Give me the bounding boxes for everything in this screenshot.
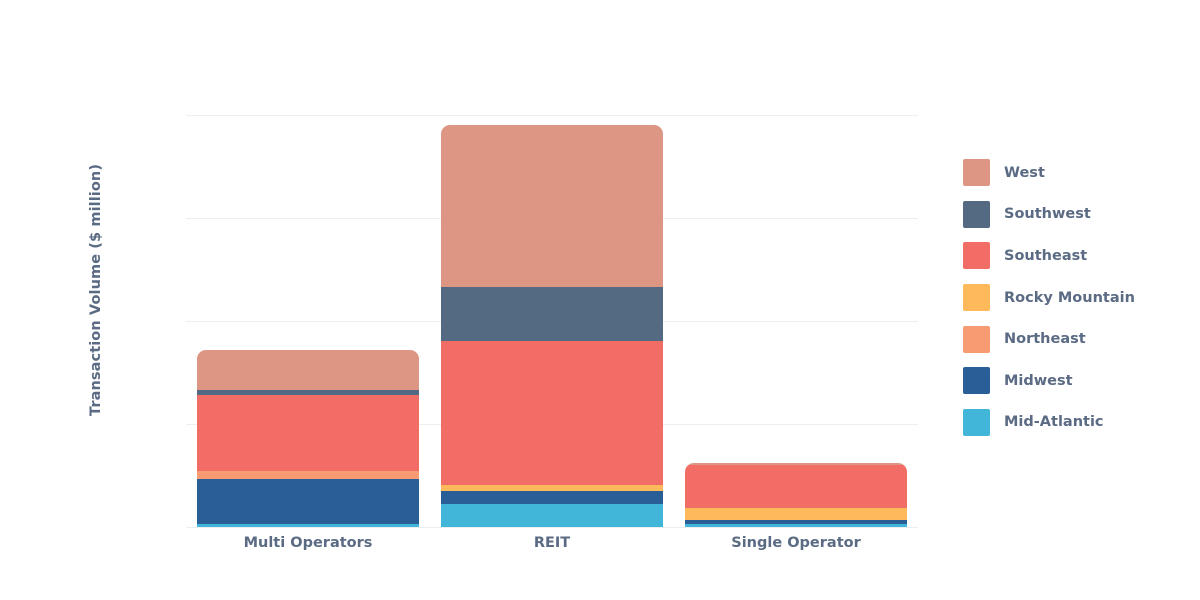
legend-item-mid-atlantic[interactable]: Mid-Atlantic — [963, 402, 1193, 444]
legend-item-southeast[interactable]: Southeast — [963, 235, 1193, 277]
bar-group[interactable]: Multi Operators — [197, 115, 419, 527]
legend-swatch-icon — [963, 326, 990, 353]
legend-item-label: West — [1004, 165, 1045, 181]
legend-item-label: Rocky Mountain — [1004, 290, 1135, 306]
stacked-bar-chart: Transaction Volume ($ million) $0$100$20… — [0, 0, 1200, 600]
bar-segment-southeast[interactable] — [685, 465, 907, 508]
legend-item-southwest[interactable]: Southwest — [963, 194, 1193, 236]
bar-stack[interactable] — [685, 463, 907, 527]
x-axis-tick-label: Multi Operators — [168, 535, 448, 551]
legend-swatch-icon — [963, 201, 990, 228]
bar-group[interactable]: Single Operator — [685, 115, 907, 527]
legend-swatch-icon — [963, 409, 990, 436]
x-axis-tick-label: Single Operator — [656, 535, 936, 551]
legend-swatch-icon — [963, 159, 990, 186]
bar-segment-southeast[interactable] — [441, 341, 663, 485]
y-axis-title: Transaction Volume ($ million) — [78, 80, 114, 500]
legend-item-northeast[interactable]: Northeast — [963, 318, 1193, 360]
bar-segment-southwest[interactable] — [441, 287, 663, 341]
legend-swatch-icon — [963, 284, 990, 311]
gridline-0 — [186, 527, 918, 528]
bar-segment-west[interactable] — [197, 350, 419, 390]
bar-segment-mid-atlantic[interactable] — [441, 504, 663, 527]
bar-segment-rocky-mountain[interactable] — [685, 508, 907, 519]
bar-segment-midwest[interactable] — [441, 491, 663, 504]
bar-stack[interactable] — [441, 125, 663, 527]
legend-swatch-icon — [963, 367, 990, 394]
legend-item-label: Midwest — [1004, 373, 1073, 389]
bar-segment-mid-atlantic[interactable] — [197, 524, 419, 527]
bar-segment-northeast[interactable] — [197, 471, 419, 478]
legend-item-label: Northeast — [1004, 331, 1086, 347]
legend-swatch-icon — [963, 242, 990, 269]
legend-item-rocky-mountain[interactable]: Rocky Mountain — [963, 277, 1193, 319]
bar-segment-mid-atlantic[interactable] — [685, 524, 907, 527]
bar-segment-midwest[interactable] — [197, 479, 419, 524]
legend: WestSouthwestSoutheastRocky MountainNort… — [963, 152, 1193, 443]
legend-item-label: Southwest — [1004, 206, 1091, 222]
bar-segment-west[interactable] — [441, 125, 663, 287]
plot-area: $0$100$200$300$400 Multi OperatorsREITSi… — [186, 115, 918, 527]
bar-stack[interactable] — [197, 350, 419, 527]
bar-group[interactable]: REIT — [441, 115, 663, 527]
legend-item-midwest[interactable]: Midwest — [963, 360, 1193, 402]
legend-item-label: Mid-Atlantic — [1004, 414, 1104, 430]
legend-item-west[interactable]: West — [963, 152, 1193, 194]
bar-segment-southeast[interactable] — [197, 395, 419, 471]
x-axis-tick-label: REIT — [412, 535, 692, 551]
legend-item-label: Southeast — [1004, 248, 1087, 264]
